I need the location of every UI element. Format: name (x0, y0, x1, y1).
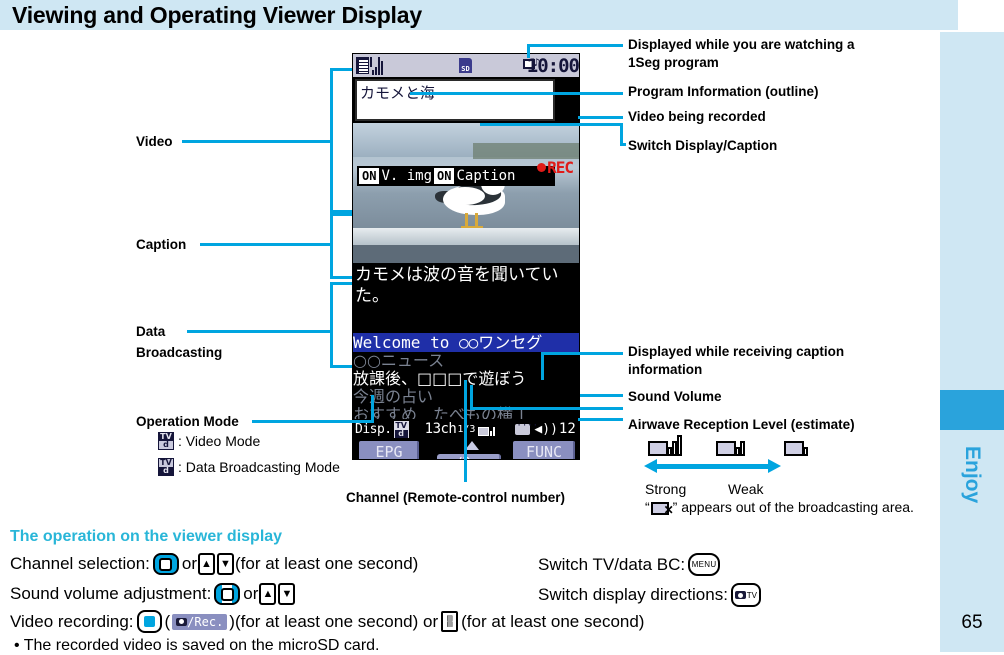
camera-icon (444, 459, 455, 460)
callout-line-airwave-h (470, 407, 623, 410)
caption-area: カモメは波の音を聞いてい た。 (353, 263, 580, 333)
sidebar (940, 32, 1004, 652)
op-row-switch-tv: Switch TV/data BC: MENU (538, 553, 723, 576)
down-arrow-key-icon[interactable]: ▼ (278, 583, 295, 605)
callout-line-sound-volume-h (580, 394, 623, 397)
strength-arrow-left-head (644, 459, 657, 473)
callout-label-1seg-1: Displayed while you are watching a (628, 36, 855, 53)
dpad-up-icon (465, 441, 479, 450)
v-img-label: V. img (381, 168, 432, 184)
callout-label-channel: Channel (Remote-control number) (346, 489, 565, 506)
op-label-switch-tv: Switch TV/data BC: (538, 555, 685, 575)
video-mode-d-label: d (159, 441, 173, 449)
op-or-2: or (243, 584, 258, 604)
reception-weak-icon (784, 434, 818, 456)
dpad-center-label: /Rec. (455, 456, 494, 460)
caption-line: カモメは波の音を聞いてい (355, 265, 579, 286)
center-key-icon[interactable] (137, 610, 162, 633)
video-mode-legend-row: TV d : Video Mode (156, 432, 260, 450)
dpad-center-rec[interactable]: /Rec. (437, 454, 501, 460)
callout-line-channel (464, 380, 467, 482)
softkey-epg[interactable]: EPG (359, 441, 419, 460)
callout-label-caption-info-1: Displayed while receiving caption (628, 343, 844, 360)
battery-icon (356, 57, 369, 74)
video-mode-icon: TV d (158, 432, 174, 450)
callout-label-caption: Caption (136, 236, 186, 253)
out-of-area-note: “ ✕ ” appears out of the broadcasting ar… (645, 499, 914, 515)
callout-bracket-data-broadcasting (330, 282, 352, 368)
volume-level: 12 (559, 421, 576, 437)
callout-line-operation-mode-v (371, 395, 374, 423)
callout-label-data-broadcasting-2: Broadcasting (136, 344, 222, 361)
disp-label: Disp. (355, 422, 392, 437)
callout-label-airwave: Airwave Reception Level (estimate) (628, 416, 855, 433)
rec-softkey-chip: /Rec. (172, 614, 227, 630)
op-row-channel-selection: Channel selection: or ▲ ▼ (for at least … (10, 553, 418, 575)
rec-indicator: REC (537, 158, 573, 177)
up-arrow-key-icon[interactable]: ▲ (198, 553, 215, 575)
reception-medium-icon (716, 434, 750, 456)
callout-line-switch-disp-h1 (480, 123, 623, 126)
program-information-box: カモメと海 (355, 79, 555, 121)
op-rec-suffix: (for at least one second) or (235, 612, 438, 632)
volume-key-icon[interactable] (214, 583, 240, 605)
page-number: 65 (940, 612, 1004, 634)
op-or-1: or (182, 554, 197, 574)
op-label-video-recording: Video recording: (10, 612, 134, 632)
camera-tv-key-icon[interactable]: TV (731, 583, 761, 607)
out-of-area-icon: ✕ (651, 499, 672, 515)
data-bc-mode-text: : Data Broadcasting Mode (178, 459, 340, 475)
callout-label-data-broadcasting-1: Data (136, 323, 165, 340)
strength-label-weak: Weak (728, 481, 764, 497)
video-area (353, 123, 580, 263)
camera-icon (735, 591, 746, 599)
reception-strong-icon (648, 434, 682, 456)
dbc-line[interactable]: Welcome to ○○ワンセグ (353, 333, 580, 352)
caption-label: Caption (456, 168, 515, 184)
callout-label-operation-mode: Operation Mode (136, 413, 239, 430)
reception-level-icon (478, 422, 495, 436)
op-rec-suffix2: (for at least one second) (461, 612, 644, 632)
callout-line-program-info (410, 92, 623, 95)
camtv-label: TV (747, 591, 757, 600)
rec-label: REC (547, 158, 573, 177)
op-label-switch-direction: Switch display directions: (538, 585, 728, 605)
navigation-key-icon[interactable] (153, 553, 179, 575)
up-arrow-key-icon[interactable]: ▲ (259, 583, 276, 605)
antenna-icon (370, 57, 386, 75)
op-row-switch-direction: Switch display directions: TV (538, 583, 764, 607)
strength-label-strong: Strong (645, 481, 686, 497)
op-paren-open: ( (165, 612, 171, 632)
callout-line-airwave-h2 (578, 418, 623, 421)
data-bc-mode-legend-row: TV d : Data Broadcasting Mode (156, 458, 340, 476)
callout-label-sound-volume: Sound Volume (628, 388, 722, 405)
down-arrow-key-icon[interactable]: ▼ (217, 553, 234, 575)
mode-d-label: d (395, 430, 408, 438)
rec-chip-label: /Rec. (187, 615, 223, 629)
rec-dot-icon (537, 163, 546, 172)
caption-line: た。 (355, 286, 579, 307)
callout-label-video: Video (136, 133, 173, 150)
callout-line-recording-h (578, 116, 623, 119)
callout-label-switch-disp: Switch Display/Caption (628, 137, 777, 154)
page-title: Viewing and Operating Viewer Display (12, 2, 422, 29)
callout-line-switch-disp-h2 (620, 143, 626, 146)
callout-label-1seg-2: 1Seg program (628, 54, 719, 71)
callout-bracket-video (330, 68, 352, 213)
out-of-area-text: ” appears out of the broadcasting area. (673, 499, 914, 515)
callout-label-caption-info-2: information (628, 361, 702, 378)
v-img-on-badge: ON (359, 168, 379, 184)
callout-label-program-info: Program Information (outline) (628, 83, 819, 100)
strength-arrow-line (655, 464, 770, 469)
callout-line-caption (200, 243, 332, 246)
callout-bracket-caption (330, 213, 352, 279)
callout-line-caption-info-h (541, 352, 623, 355)
callout-line-1seg-h (527, 44, 623, 47)
strength-arrow-right-head (768, 459, 781, 473)
sidebar-tab-active[interactable] (940, 390, 1004, 430)
op-row-bullet-note: • The recorded video is saved on the mic… (14, 637, 379, 655)
callout-line-data-broadcasting (187, 330, 332, 333)
softkey-func[interactable]: FUNC (513, 441, 575, 460)
sd-card-icon: SD (459, 58, 472, 73)
reception-icons-row (648, 434, 818, 456)
data-broadcasting-mode-icon: TV d (158, 458, 174, 476)
phone-status-bar: SD ♪ 10:00 (353, 54, 580, 77)
callout-line-video (182, 140, 332, 143)
clock: 10:00 (527, 55, 579, 77)
callout-line-operation-mode (252, 420, 374, 423)
op-label-channel-selection: Channel selection: (10, 554, 150, 574)
out-of-area-quote-open: “ (645, 499, 650, 515)
op-row-video-recording: Video recording: ( /Rec. ) (for at least… (10, 610, 644, 633)
sidebar-item-enjoy[interactable]: Enjoy (940, 430, 1004, 520)
channel-number: 13ch (425, 421, 457, 437)
op-channel-suffix: (for at least one second) (235, 554, 418, 574)
menu-key-icon[interactable]: MENU (688, 553, 720, 576)
callout-line-caption-info-v (541, 352, 544, 380)
dbc-mode-d-label: d (159, 467, 173, 475)
video-mode-text: : Video Mode (178, 433, 260, 449)
caption-receiving-icon (515, 424, 530, 435)
caption-on-badge: ON (434, 168, 454, 184)
camera-icon (176, 618, 187, 626)
operations-heading: The operation on the viewer display (10, 528, 282, 546)
op-bullet-note: • The recorded video is saved on the mic… (14, 637, 379, 655)
switch-display-caption-bar[interactable]: ON V. img ON Caption (357, 166, 555, 186)
callout-line-switch-disp-v (620, 123, 623, 145)
callout-label-recording: Video being recorded (628, 108, 766, 125)
dpad-indicator[interactable]: /Rec. (431, 441, 507, 460)
memo-key-icon[interactable]: ▤▤ (441, 611, 458, 632)
op-label-sound-volume: Sound volume adjustment: (10, 584, 211, 604)
operation-mode-icon: TV d (394, 421, 409, 438)
op-row-sound-volume: Sound volume adjustment: or ▲ ▼ (10, 583, 296, 605)
